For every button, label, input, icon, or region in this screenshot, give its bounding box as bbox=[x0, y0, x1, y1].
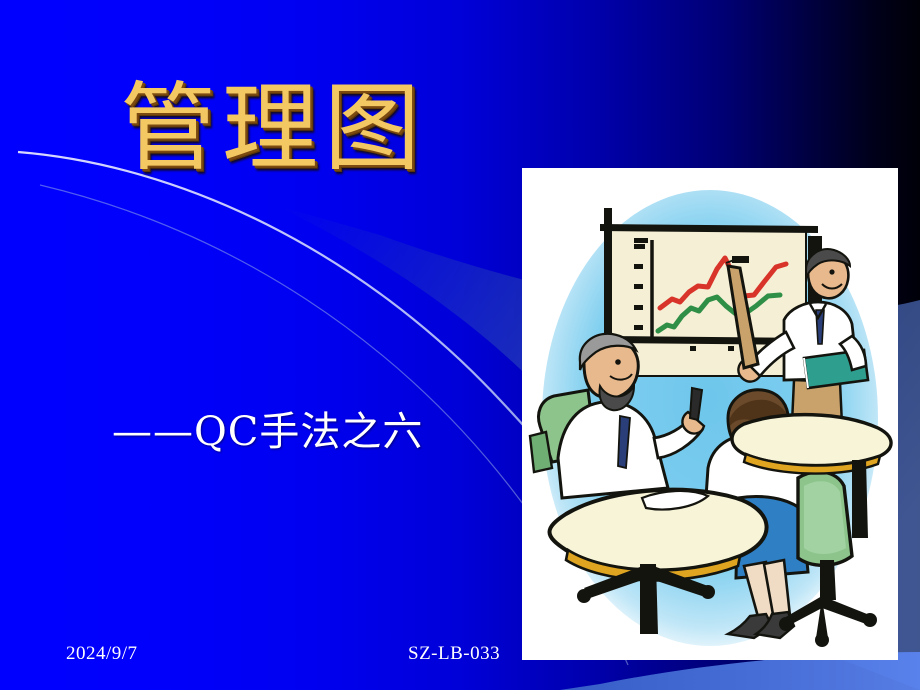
page-title: 管理图 bbox=[120, 78, 520, 179]
footer-date: 2024/9/7 bbox=[66, 643, 138, 665]
footer-document-code: SZ-LB-033 bbox=[408, 643, 500, 665]
clipart-svg bbox=[522, 168, 898, 660]
presentation-slide: 管理图 ——QC手法之六 2024/9/7 SZ-LB-033 bbox=[0, 0, 920, 690]
meeting-clipart-image bbox=[522, 168, 898, 660]
page-subtitle: ——QC手法之六 bbox=[112, 410, 512, 454]
